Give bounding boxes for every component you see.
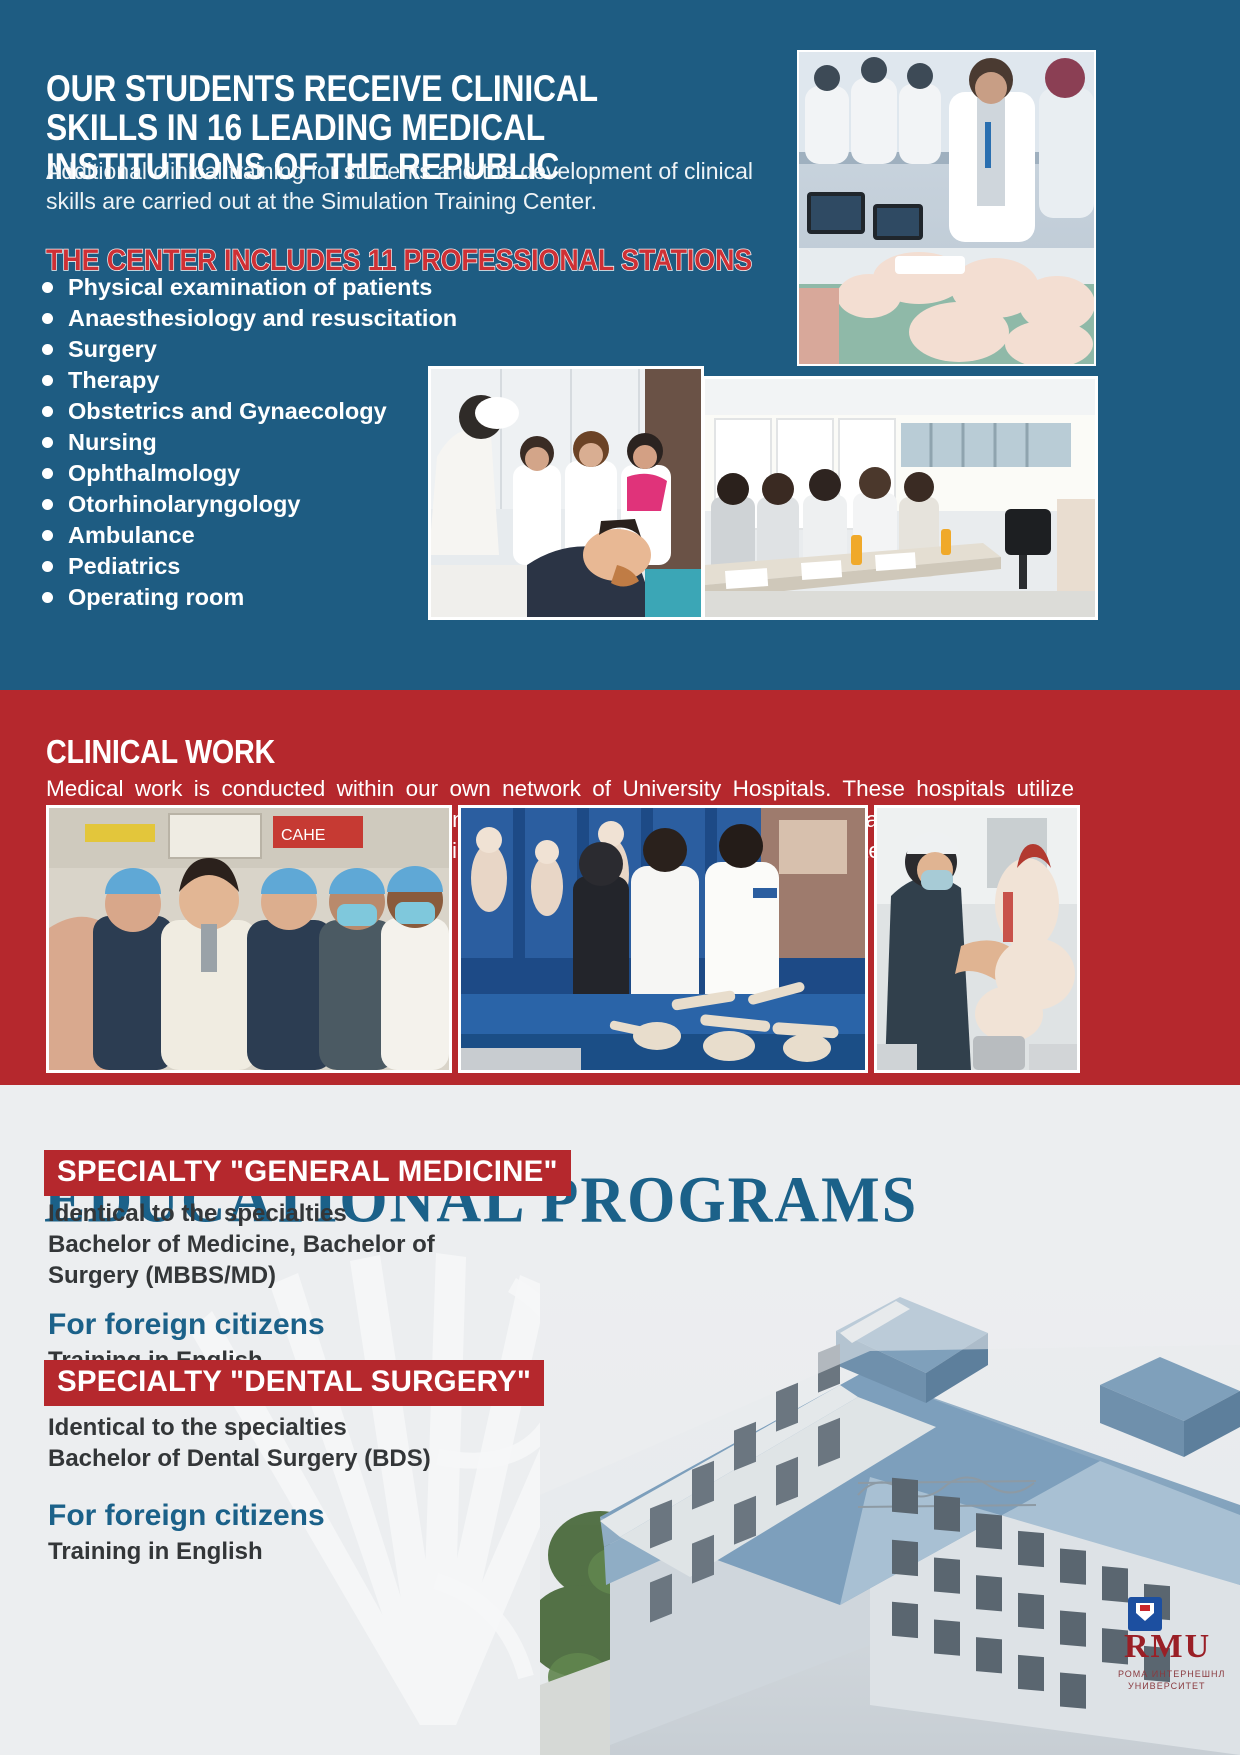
foreign-citizens-heading: For foreign citizens	[48, 1496, 431, 1536]
program-line: Bachelor of Medicine, Bachelor of	[48, 1229, 435, 1260]
station-label: Operating room	[68, 582, 244, 613]
list-item: Therapy	[42, 365, 457, 396]
training-language-note: Training in English	[48, 1536, 431, 1567]
photo-students-group-scrubs-art: CAHE	[49, 808, 449, 1070]
station-label: Therapy	[68, 365, 159, 396]
svg-text:CAHE: CAHE	[281, 827, 325, 844]
list-item: Physical examination of patients	[42, 272, 457, 303]
program-line: Identical to the specialties	[48, 1412, 431, 1443]
program-line: Identical to the specialties	[48, 1198, 435, 1229]
photo-simulation-manikin-training	[797, 50, 1096, 366]
rmu-logo: RMU РОМА ИНТЕРНЕШНЛ УНИВЕРСИТЕТ	[1118, 1597, 1225, 1691]
list-item: Ambulance	[42, 520, 457, 551]
list-item: Ophthalmology	[42, 458, 457, 489]
simulation-subheading: Additional clinical training for student…	[46, 156, 786, 217]
bullet-dot-icon	[42, 437, 53, 448]
program-line: Surgery (MBBS/MD)	[48, 1260, 435, 1291]
photo-anatomy-lab-skeleton-art	[461, 808, 865, 1070]
photo-exam-station-assessors-art	[705, 379, 1095, 617]
photo-anatomy-lab-skeleton	[458, 805, 868, 1073]
badge-specialty-dental-surgery: SPECIALTY "DENTAL SURGERY"	[44, 1360, 544, 1406]
station-label: Physical examination of patients	[68, 272, 432, 303]
station-label: Pediatrics	[68, 551, 180, 582]
photo-nurse-simulation-manikin	[874, 805, 1080, 1073]
station-label: Obstetrics and Gynaecology	[68, 396, 387, 427]
list-item: Operating room	[42, 582, 457, 613]
station-label: Surgery	[68, 334, 157, 365]
station-label: Nursing	[68, 427, 157, 458]
photo-ent-examination-class-art	[431, 369, 701, 617]
badge-specialty-general-medicine: SPECIALTY "GENERAL MEDICINE"	[44, 1150, 571, 1196]
bullet-dot-icon	[42, 344, 53, 355]
clinical-work-heading: CLINICAL WORK	[46, 733, 275, 771]
bullet-dot-icon	[42, 313, 53, 324]
stations-list: Physical examination of patientsAnaesthe…	[42, 272, 457, 613]
list-item: Otorhinolaryngology	[42, 489, 457, 520]
bullet-dot-icon	[42, 561, 53, 572]
photo-simulation-manikin-training-art	[799, 52, 1094, 364]
simulation-section: OUR STUDENTS RECEIVE CLINICAL SKILLS IN …	[0, 0, 1240, 690]
bullet-dot-icon	[42, 375, 53, 386]
list-item: Surgery	[42, 334, 457, 365]
program-line: Bachelor of Dental Surgery (BDS)	[48, 1443, 431, 1474]
program-dental-surgery-details: Identical to the specialties Bachelor of…	[48, 1412, 431, 1567]
svg-text:RMU: RMU	[1124, 1628, 1211, 1665]
station-label: Otorhinolaryngology	[68, 489, 300, 520]
program-general-medicine-details: Identical to the specialties Bachelor of…	[48, 1198, 435, 1376]
bullet-dot-icon	[42, 468, 53, 479]
photo-ent-examination-class	[428, 366, 704, 620]
list-item: Obstetrics and Gynaecology	[42, 396, 457, 427]
poster-page: OUR STUDENTS RECEIVE CLINICAL SKILLS IN …	[0, 0, 1240, 1755]
list-item: Nursing	[42, 427, 457, 458]
svg-text:РОМА ИНТЕРНЕШНЛ: РОМА ИНТЕРНЕШНЛ	[1118, 1669, 1225, 1679]
list-item: Pediatrics	[42, 551, 457, 582]
clinical-work-section: CLINICAL WORK Medical work is conducted …	[0, 690, 1240, 1085]
list-item: Anaesthesiology and resuscitation	[42, 303, 457, 334]
photo-nurse-simulation-manikin-art	[877, 808, 1077, 1070]
photo-students-group-scrubs: CAHE	[46, 805, 452, 1073]
bullet-dot-icon	[42, 499, 53, 510]
foreign-citizens-heading: For foreign citizens	[48, 1305, 435, 1345]
bullet-dot-icon	[42, 406, 53, 417]
bullet-dot-icon	[42, 592, 53, 603]
station-label: Ambulance	[68, 520, 195, 551]
photo-exam-station-assessors	[702, 376, 1098, 620]
bullet-dot-icon	[42, 530, 53, 541]
bullet-dot-icon	[42, 282, 53, 293]
station-label: Anaesthesiology and resuscitation	[68, 303, 457, 334]
station-label: Ophthalmology	[68, 458, 240, 489]
svg-text:УНИВЕРСИТЕТ: УНИВЕРСИТЕТ	[1128, 1681, 1206, 1691]
